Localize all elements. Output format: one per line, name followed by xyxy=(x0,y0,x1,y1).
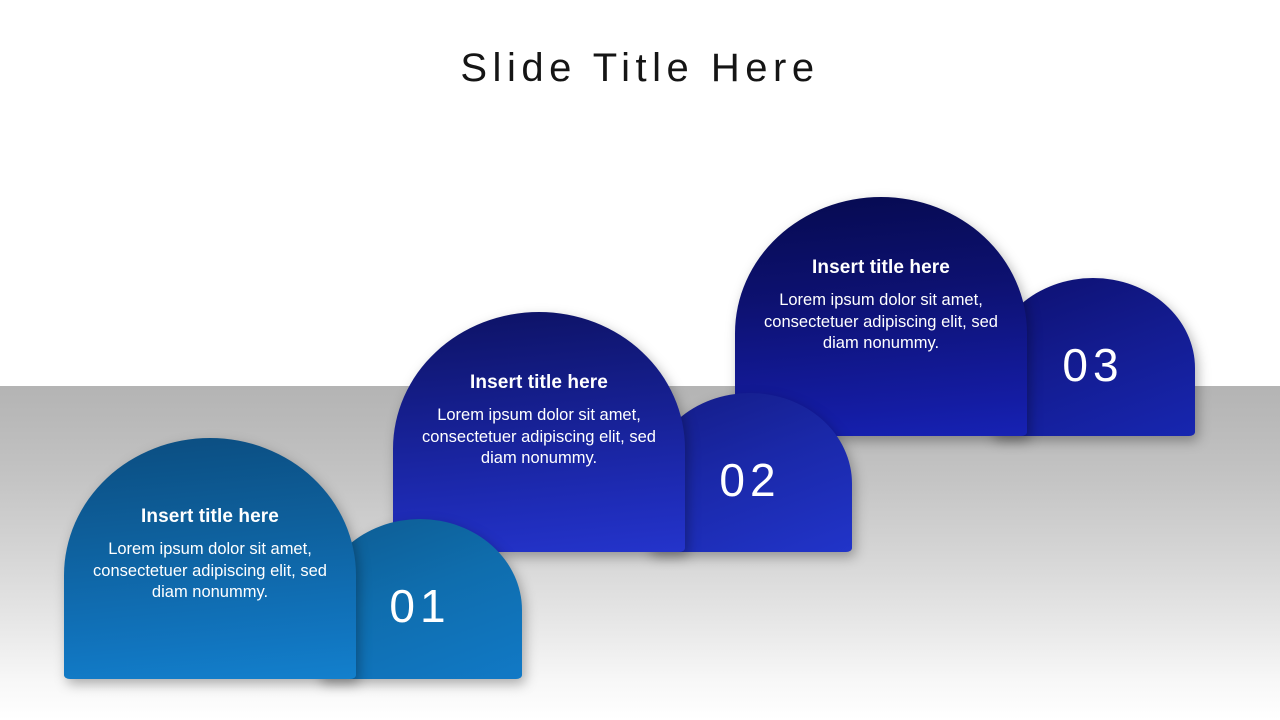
panel-title-03: Insert title here xyxy=(735,257,1027,279)
panel-body-03: Lorem ipsum dolor sit amet, consectetuer… xyxy=(735,290,1027,355)
panel-title-01: Insert title here xyxy=(64,506,356,528)
content-panel-02[interactable]: Insert title here Lorem ipsum dolor sit … xyxy=(393,312,685,552)
panel-body-02: Lorem ipsum dolor sit amet, consectetuer… xyxy=(393,405,685,470)
panel-body-01: Lorem ipsum dolor sit amet, consectetuer… xyxy=(64,539,356,604)
slide-canvas: Slide Title Here 03 Insert title here Lo… xyxy=(0,0,1280,720)
panel-title-02: Insert title here xyxy=(393,372,685,394)
page-title: Slide Title Here xyxy=(0,46,1280,91)
